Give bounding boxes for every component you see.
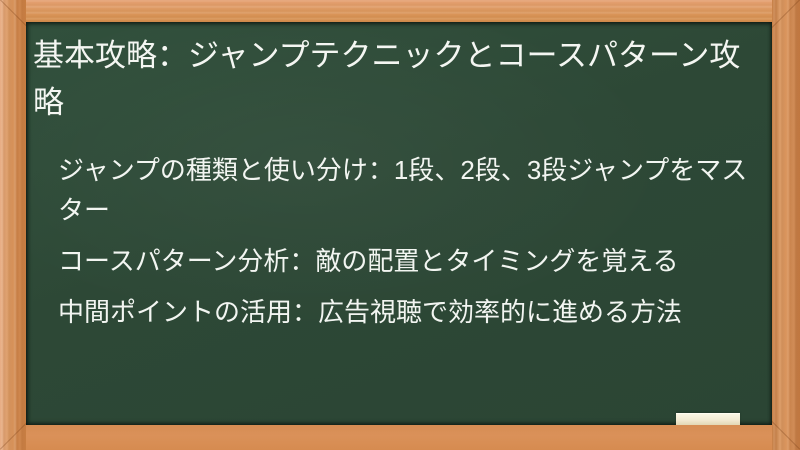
chalkboard-slide: 基本攻略：ジャンプテクニックとコースパターン攻略 ジャンプの種類と使い分け：1段… xyxy=(0,0,800,450)
frame-rail-bottom xyxy=(0,424,800,450)
frame-rail-left xyxy=(0,0,26,450)
slide-bullet-list: ジャンプの種類と使い分け：1段、2段、3段ジャンプをマスター コースパターン分析… xyxy=(58,150,748,332)
chalk-stick-icon xyxy=(676,413,740,425)
slide-title: 基本攻略：ジャンプテクニックとコースパターン攻略 xyxy=(33,32,745,126)
list-item: 中間ポイントの活用：広告視聴で効率的に進める方法 xyxy=(58,292,748,332)
list-item: コースパターン分析：敵の配置とタイミングを覚える xyxy=(58,241,748,281)
list-item: ジャンプの種類と使い分け：1段、2段、3段ジャンプをマスター xyxy=(58,150,748,230)
chalkboard-surface: 基本攻略：ジャンプテクニックとコースパターン攻略 ジャンプの種類と使い分け：1段… xyxy=(26,22,772,425)
frame-rail-right xyxy=(772,0,800,450)
chalkboard-content: 基本攻略：ジャンプテクニックとコースパターン攻略 ジャンプの種類と使い分け：1段… xyxy=(26,22,772,425)
